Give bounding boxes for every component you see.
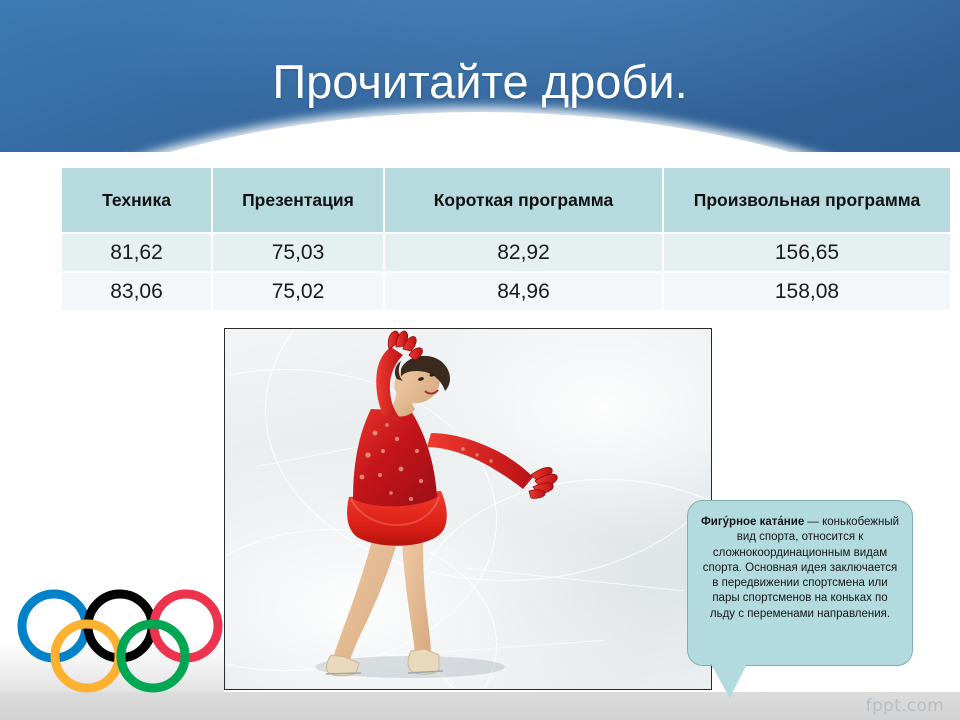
callout-definition: конькобежный вид спорта, относится к сло… [703,516,899,620]
page-title: Прочитайте дроби. [0,57,960,108]
table-header-tehnika: Техника [62,168,211,232]
callout-dash: — [804,516,822,528]
table-cell: 158,08 [664,273,950,310]
table-header-prezentaciya: Презентация [213,168,383,232]
table-cell: 75,03 [213,234,383,271]
table-cell: 156,65 [664,234,950,271]
callout-term: Фигу́рное ката́ние [701,516,804,528]
table-cell: 81,62 [62,234,211,271]
presentation-slide: Прочитайте дроби. Техника Презентация Ко… [0,0,960,720]
table-cell: 83,06 [62,273,211,310]
table-cell: 84,96 [385,273,662,310]
table-cell: 82,92 [385,234,662,271]
skater-figure [225,329,712,690]
figure-skater-photo [224,328,712,690]
scores-table: Техника Презентация Короткая программа П… [60,166,952,312]
definition-callout: Фигу́рное ката́ние — конькобежный вид сп… [687,500,913,666]
table-row: 81,62 75,03 82,92 156,65 [62,234,950,271]
watermark-fppt: fppt.com [866,692,944,720]
table-header-korotkaya-programma: Короткая программа [385,168,662,232]
table-header-row: Техника Презентация Короткая программа П… [62,168,950,232]
olympic-rings-icon [14,586,256,698]
table-row: 83,06 75,02 84,96 158,08 [62,273,950,310]
callout-body: Фигу́рное ката́ние — конькобежный вид сп… [687,500,913,666]
table-header-proizvolnaya-programma: Произвольная программа [664,168,950,232]
table-cell: 75,02 [213,273,383,310]
